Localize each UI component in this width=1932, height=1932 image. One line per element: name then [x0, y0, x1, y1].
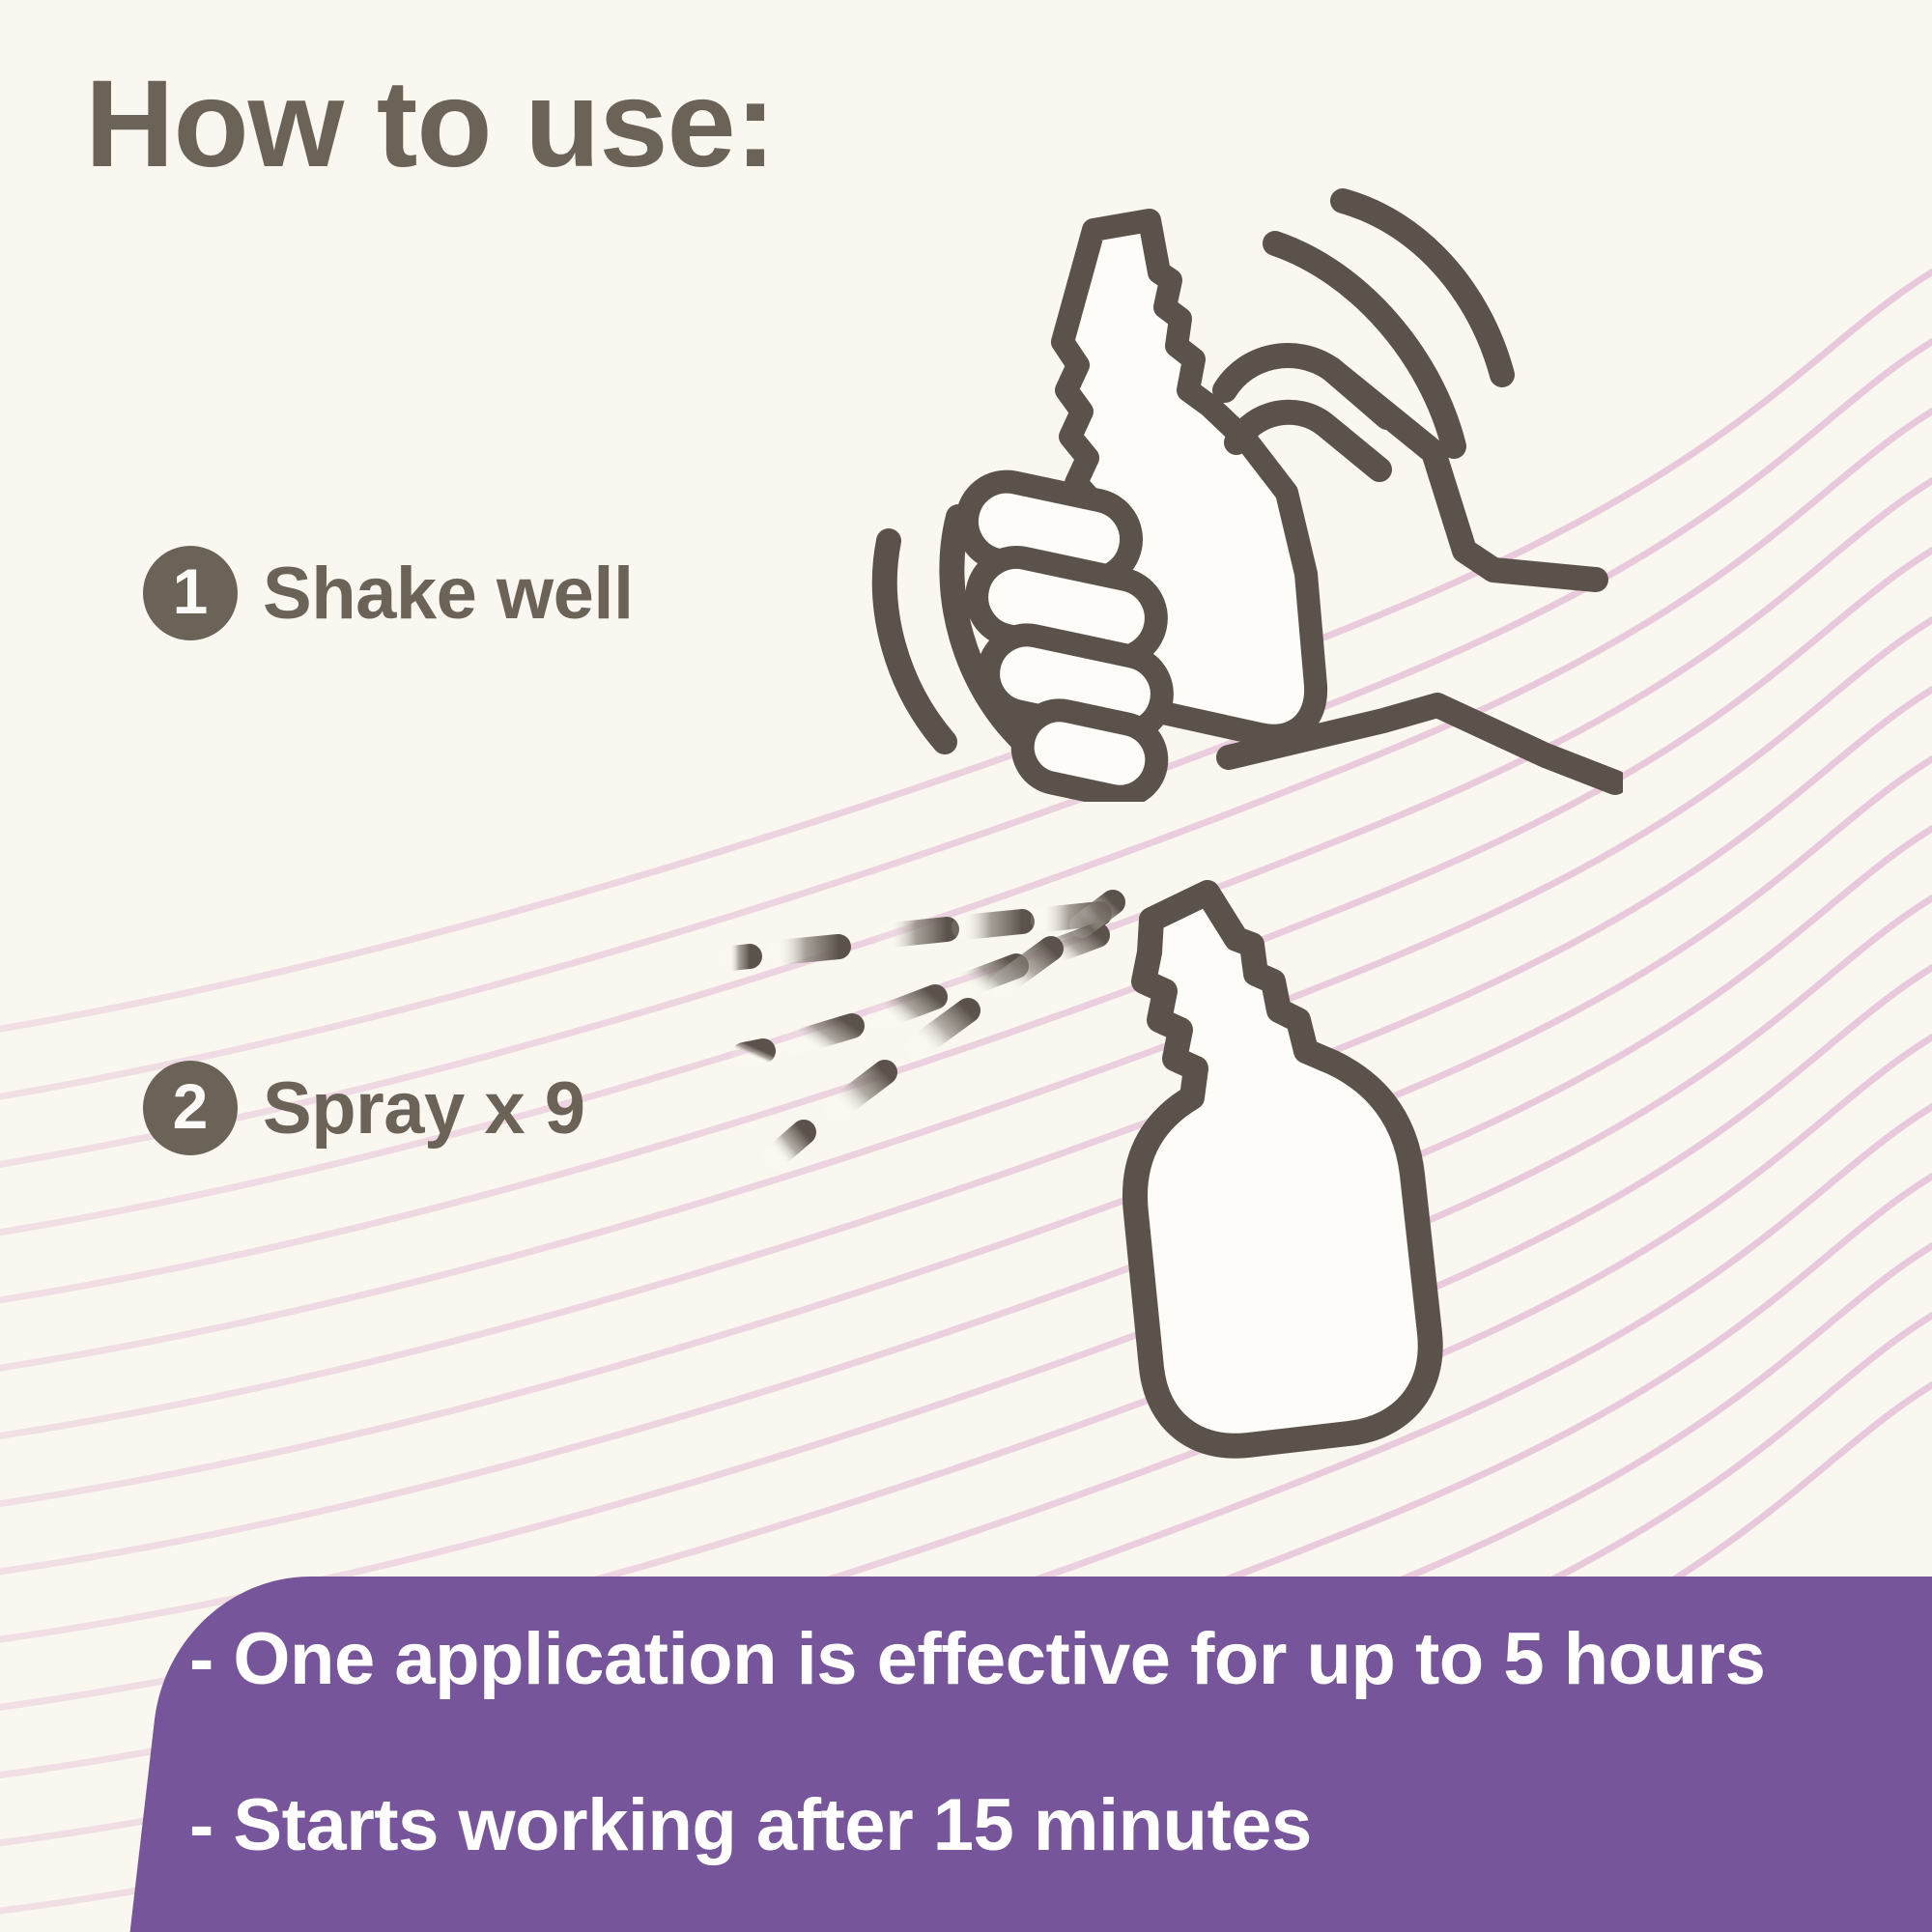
step-number-badge-1: 1: [143, 546, 238, 640]
page-title: How to use:: [85, 60, 775, 189]
footer-benefit-1: - One application is effective for up to…: [189, 1623, 1918, 1696]
spray-bottle-spraying-icon: [715, 879, 1507, 1507]
step-number-badge-2: 2: [143, 1061, 238, 1155]
footer-benefit-2: - Starts working after 15 minutes: [189, 1789, 1918, 1862]
step-label-1: Shake well: [263, 552, 634, 636]
how-to-use-poster: How to use: 1 Shake well: [0, 0, 1932, 1932]
step-item-2: 2 Spray x 9: [143, 1061, 585, 1155]
hand-shaking-spray-bottle-icon: [869, 184, 1623, 802]
step-label-2: Spray x 9: [263, 1066, 585, 1151]
step-item-1: 1 Shake well: [143, 546, 634, 640]
footer-benefits-list: - One application is effective for up to…: [189, 1623, 1918, 1862]
